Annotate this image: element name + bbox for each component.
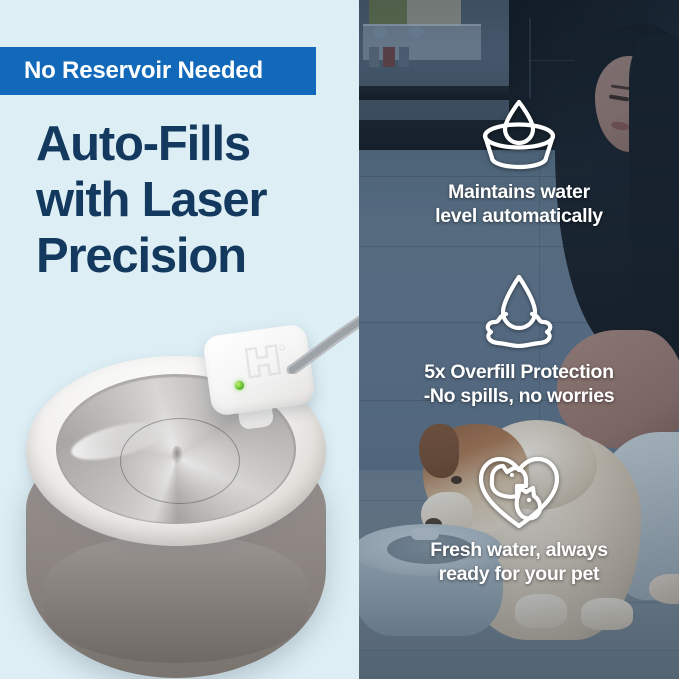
headline-line-2: with Laser [36, 173, 356, 229]
water-jet [171, 446, 183, 464]
headline-line-3: Precision [36, 229, 356, 285]
feature-overfill-protection: 5x Overfill Protection -No spills, no wo… [359, 272, 679, 409]
feature-list: Maintains water level automatically 5x O… [359, 0, 679, 679]
status-led-indicator [234, 380, 244, 390]
heart-with-dog-and-cat-icon [476, 452, 562, 530]
feature-label: Fresh water, always ready for your pet [430, 539, 607, 587]
bowl-with-water-drop-icon [478, 96, 560, 172]
product-infographic: No Reservoir Needed Auto-Fills with Lase… [0, 0, 679, 679]
braided-water-hose [286, 312, 359, 374]
water-drop-splash-icon [478, 272, 560, 352]
feature-label: Maintains water level automatically [435, 181, 603, 229]
feature-fresh-water: Fresh water, always ready for your pet [359, 452, 679, 587]
right-panel: Maintains water level automatically 5x O… [359, 0, 679, 679]
left-panel: No Reservoir Needed Auto-Fills with Lase… [0, 0, 359, 679]
product-photo [0, 318, 359, 679]
badge-no-reservoir: No Reservoir Needed [0, 47, 316, 95]
feature-maintains-water-level: Maintains water level automatically [359, 96, 679, 229]
feature-label: 5x Overfill Protection -No spills, no wo… [424, 361, 615, 409]
badge-label: No Reservoir Needed [0, 57, 263, 85]
brand-logo-icon [241, 338, 292, 384]
headline-line-1: Auto-Fills [36, 117, 356, 173]
page-title: Auto-Fills with Laser Precision [36, 117, 356, 285]
